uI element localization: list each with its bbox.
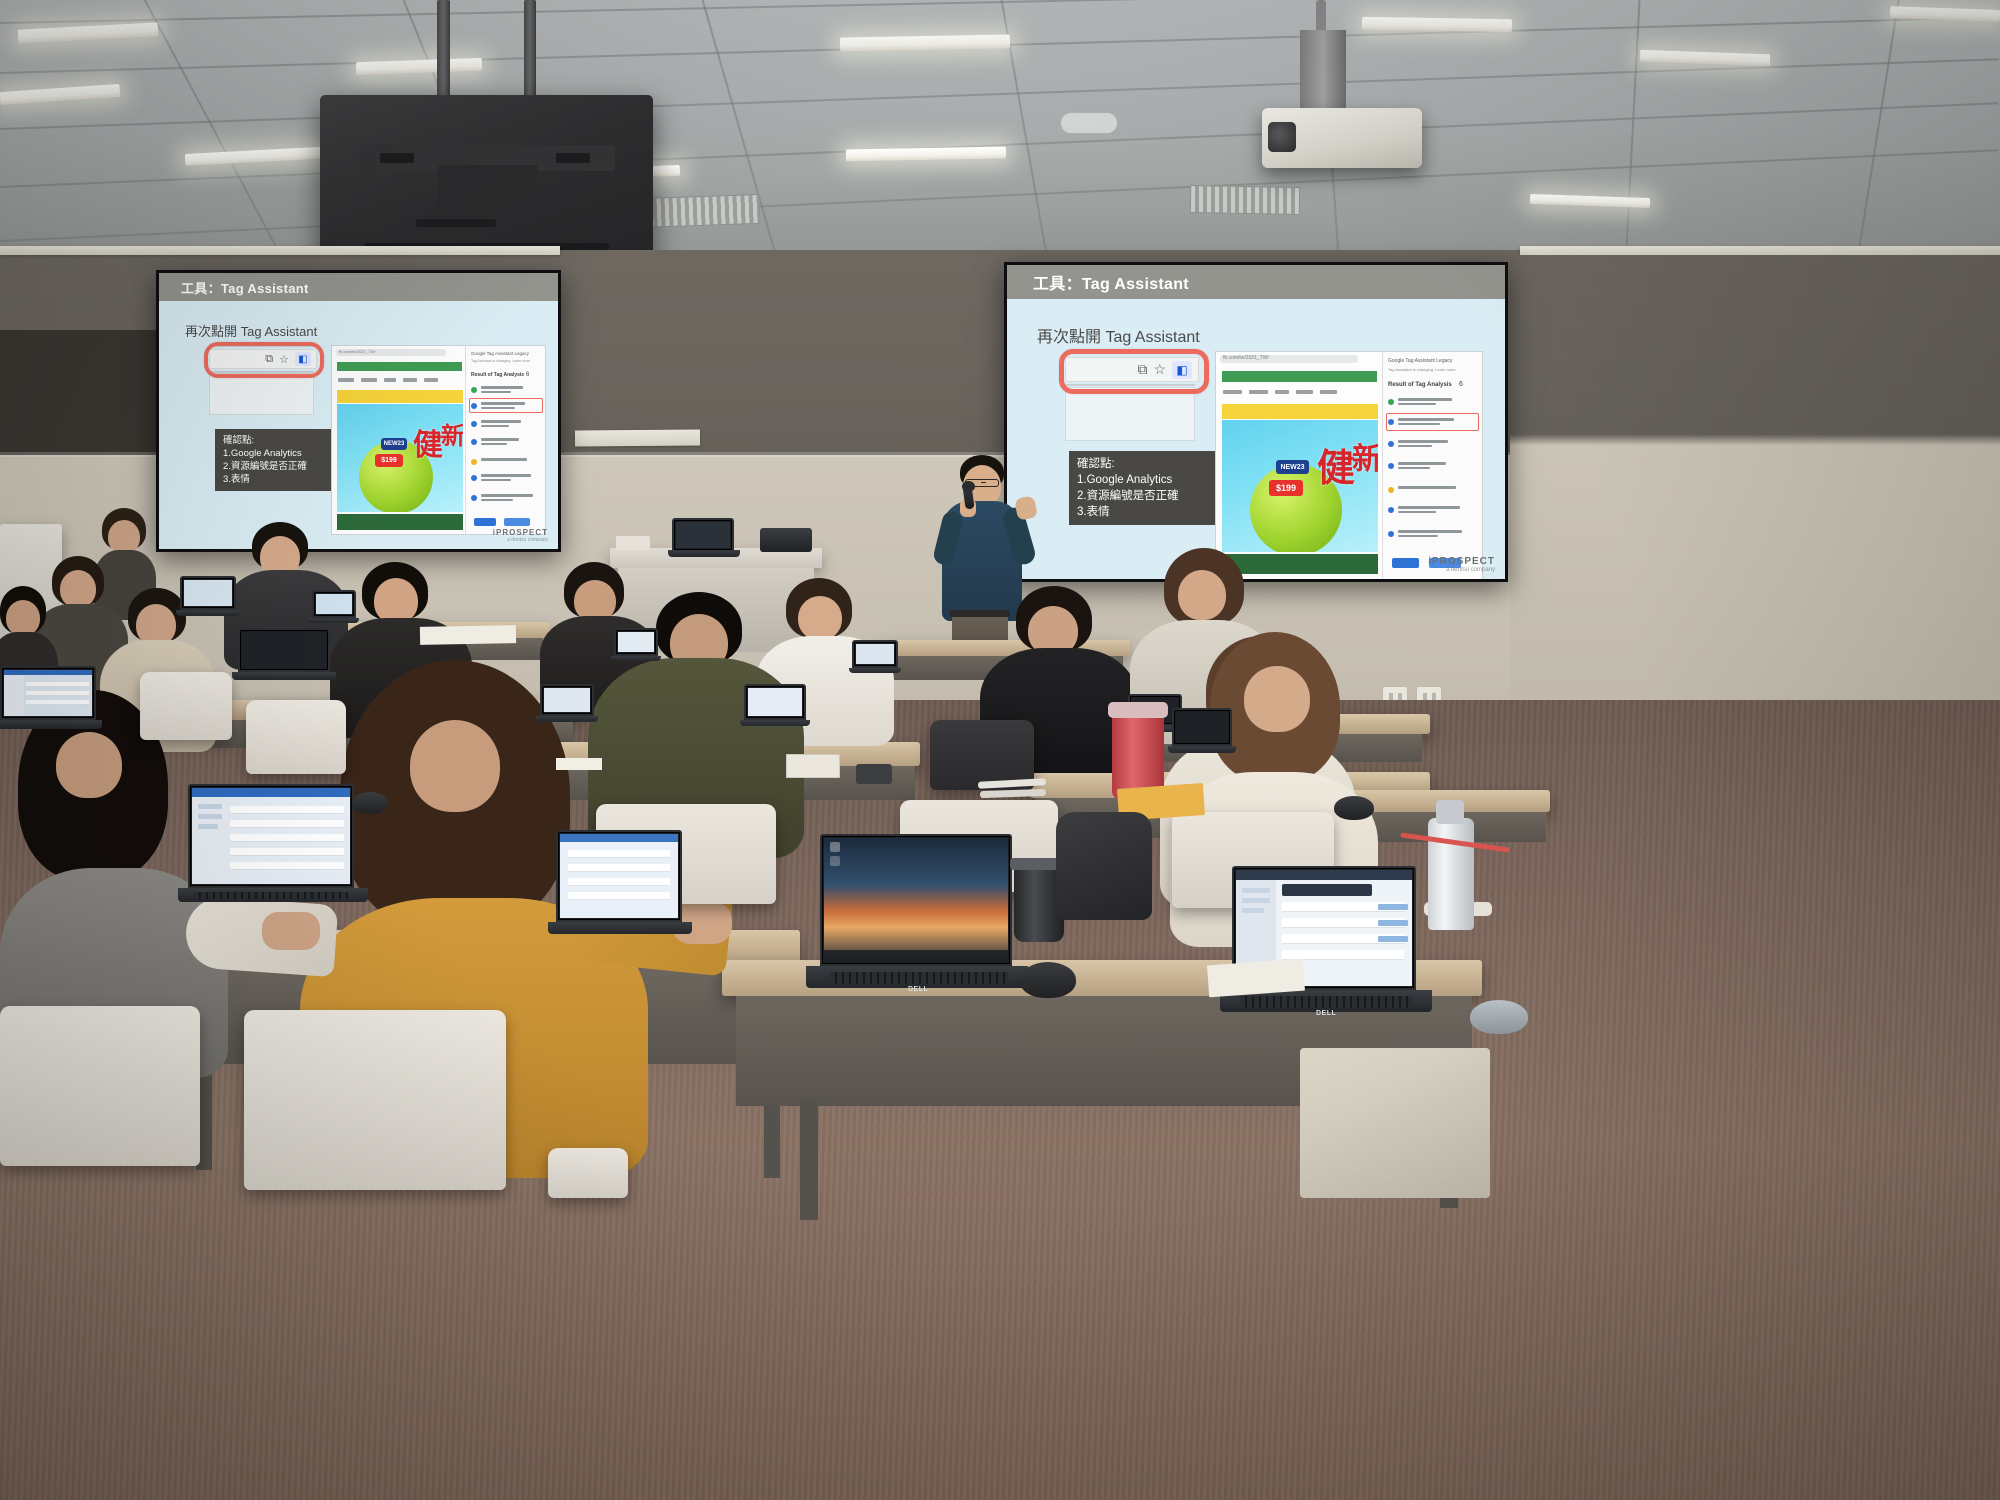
ad-price: $199 xyxy=(1269,480,1303,496)
brand-logo: iPROSPECT a dentsu company xyxy=(1428,556,1495,573)
panel-row xyxy=(1388,530,1462,539)
ad-headline: 新 xyxy=(441,426,463,448)
monitor-bracket xyxy=(438,165,538,211)
glasses-icon xyxy=(981,482,986,483)
chair xyxy=(140,672,232,740)
chair xyxy=(244,1010,506,1190)
slide-screenshot: fb.com/tw/2021_TW/ NEW23 $199 健 新 xyxy=(331,345,546,535)
panel-row xyxy=(471,420,521,429)
ceiling-tile xyxy=(1060,112,1118,134)
slide-left: 工具：Tag Assistant 再次點開 Tag Assistant ⧉ ☆ … xyxy=(159,273,558,549)
computer-mouse xyxy=(1470,1000,1528,1034)
slide-header: 工具：Tag Assistant xyxy=(159,273,558,301)
panel-row xyxy=(471,474,531,483)
drink-lid xyxy=(1108,702,1168,718)
screenshot-url: fb.com/tw/2021_TW/ xyxy=(339,349,376,354)
ad-price: $199 xyxy=(375,454,403,467)
ceiling-light xyxy=(840,35,1010,52)
result-heading: Result of Tag Analysis xyxy=(1388,382,1452,388)
attendee-hand xyxy=(262,912,320,950)
screenshot-url: fb.com/tw/2021_TW/ xyxy=(1223,355,1269,361)
panel-row xyxy=(471,458,527,465)
checklist-item: 1.Google Analytics xyxy=(223,447,327,460)
table-leg xyxy=(800,1100,818,1220)
projector-lens xyxy=(1268,122,1296,152)
slide-header: 工具：Tag Assistant xyxy=(1007,265,1505,299)
presenter-laptop xyxy=(672,518,734,552)
panel-row xyxy=(1388,440,1448,449)
panel-row xyxy=(471,438,519,447)
panel-row xyxy=(1388,506,1460,515)
computer-mouse xyxy=(1334,796,1374,820)
name-card xyxy=(786,754,840,778)
result-count: 6 xyxy=(526,372,529,378)
slide-screenshot: fb.com/tw/2021_TW/ NEW23 $199 健 新 xyxy=(1215,351,1483,579)
tag-assistant-panel: Google Tag Assistant Legacy Tag Assistan… xyxy=(1382,352,1482,579)
microphone-head xyxy=(962,481,975,492)
desk-object xyxy=(856,764,892,784)
av-paper xyxy=(616,536,650,550)
wall-trim xyxy=(575,429,700,446)
checklist-heading: 確認點: xyxy=(1077,456,1209,472)
panel-row xyxy=(1388,462,1446,471)
slide-body: 再次點開 Tag Assistant ⧉ ☆ ◧ 確認點: 1.Google A… xyxy=(1007,299,1505,579)
computer-mouse xyxy=(1020,962,1076,998)
ad-badge: NEW23 xyxy=(1276,460,1309,474)
computer-mouse xyxy=(352,792,388,814)
panel-button xyxy=(474,518,496,526)
checklist-item: 2.資源編號是否正確 xyxy=(1077,488,1209,504)
panel-note: Tag Assistant is changing. Learn more xyxy=(1388,367,1456,372)
ad-headline: 健 xyxy=(1317,452,1355,486)
backpack xyxy=(1056,812,1152,920)
panel-row xyxy=(1388,398,1452,407)
monitor-port xyxy=(556,153,590,163)
projector-mount xyxy=(1300,30,1346,112)
ad-badge: NEW23 xyxy=(381,438,407,450)
chair xyxy=(0,1006,200,1166)
wall-trim xyxy=(0,246,560,255)
extension-popup-mock xyxy=(1065,387,1195,441)
left-projection-screen: 工具：Tag Assistant 再次點開 Tag Assistant ⧉ ☆ … xyxy=(156,270,561,552)
slide-body: 再次點開 Tag Assistant ⧉ ☆ ◧ 確認點: 1.Google A… xyxy=(159,301,558,549)
slide-right: 工具：Tag Assistant 再次點開 Tag Assistant ⧉ ☆ … xyxy=(1007,265,1505,579)
paper-sheet xyxy=(1207,959,1305,998)
checklist-item: 3.表情 xyxy=(1077,504,1209,520)
monitor-port xyxy=(416,219,496,227)
panel-button xyxy=(504,518,530,526)
presenter-hand-right xyxy=(1014,495,1038,521)
panel-highlight-box xyxy=(1386,413,1479,431)
paper-sheet xyxy=(556,758,602,770)
ad-headline: 新 xyxy=(1352,446,1378,473)
slide-title: 工具：Tag Assistant xyxy=(181,278,309,297)
checklist-note: 確認點: 1.Google Analytics 2.資源編號是否正確 3.表情 xyxy=(215,429,335,491)
checklist-item: 3.表情 xyxy=(223,473,327,486)
extension-popup-mock xyxy=(209,373,314,415)
slide-subtitle: 再次點開 Tag Assistant xyxy=(1037,323,1200,347)
classroom-photo: 工具：Tag Assistant 再次點開 Tag Assistant ⧉ ☆ … xyxy=(0,0,2000,1500)
panel-row xyxy=(471,494,533,503)
panel-title: Google Tag Assistant Legacy xyxy=(471,351,529,356)
tag-assistant-panel: Google Tag Assistant Legacy Tag Assistan… xyxy=(465,346,545,534)
result-heading: Result of Tag Analysis xyxy=(471,372,524,378)
monitor-port xyxy=(380,153,414,163)
brand-logo: iPROSPECT a dentsu company xyxy=(493,528,548,543)
checklist-item: 1.Google Analytics xyxy=(1077,472,1209,488)
panel-note: Tag Assistant is changing. Learn more xyxy=(471,359,530,363)
dell-logo: DELL xyxy=(908,986,928,993)
ceiling-light xyxy=(1362,17,1512,33)
chair xyxy=(548,1148,628,1198)
slide-subtitle: 再次點開 Tag Assistant xyxy=(185,321,317,340)
bottle-cap xyxy=(1436,800,1464,824)
dell-logo: DELL xyxy=(1316,1010,1336,1017)
panel-highlight-box xyxy=(469,398,543,413)
chair xyxy=(246,700,346,774)
panel-row xyxy=(471,386,523,395)
checklist-heading: 確認點: xyxy=(223,434,327,447)
checklist-note: 確認點: 1.Google Analytics 2.資源編號是否正確 3.表情 xyxy=(1069,451,1217,525)
highlight-box xyxy=(1059,349,1209,394)
projector-arm xyxy=(1316,0,1326,34)
panel-title: Google Tag Assistant Legacy xyxy=(1388,358,1452,364)
slide-title: 工具：Tag Assistant xyxy=(1033,270,1189,294)
ad-headline: 健 xyxy=(413,432,443,459)
panel-button xyxy=(1392,558,1419,568)
tote-bag xyxy=(1300,1048,1490,1198)
water-bottle xyxy=(1428,818,1474,930)
highlight-box xyxy=(204,342,324,378)
checklist-item: 2.資源編號是否正確 xyxy=(223,460,327,473)
ceiling-vent xyxy=(640,194,761,228)
result-count: 6 xyxy=(1459,381,1463,388)
presenter-laptop-base xyxy=(668,550,740,557)
ceiling-vent xyxy=(1190,185,1300,215)
panel-row xyxy=(1388,486,1456,493)
right-projection-screen: 工具：Tag Assistant 再次點開 Tag Assistant ⧉ ☆ … xyxy=(1004,262,1508,582)
paper-sheet xyxy=(420,625,516,645)
av-switcher-box xyxy=(760,528,812,552)
